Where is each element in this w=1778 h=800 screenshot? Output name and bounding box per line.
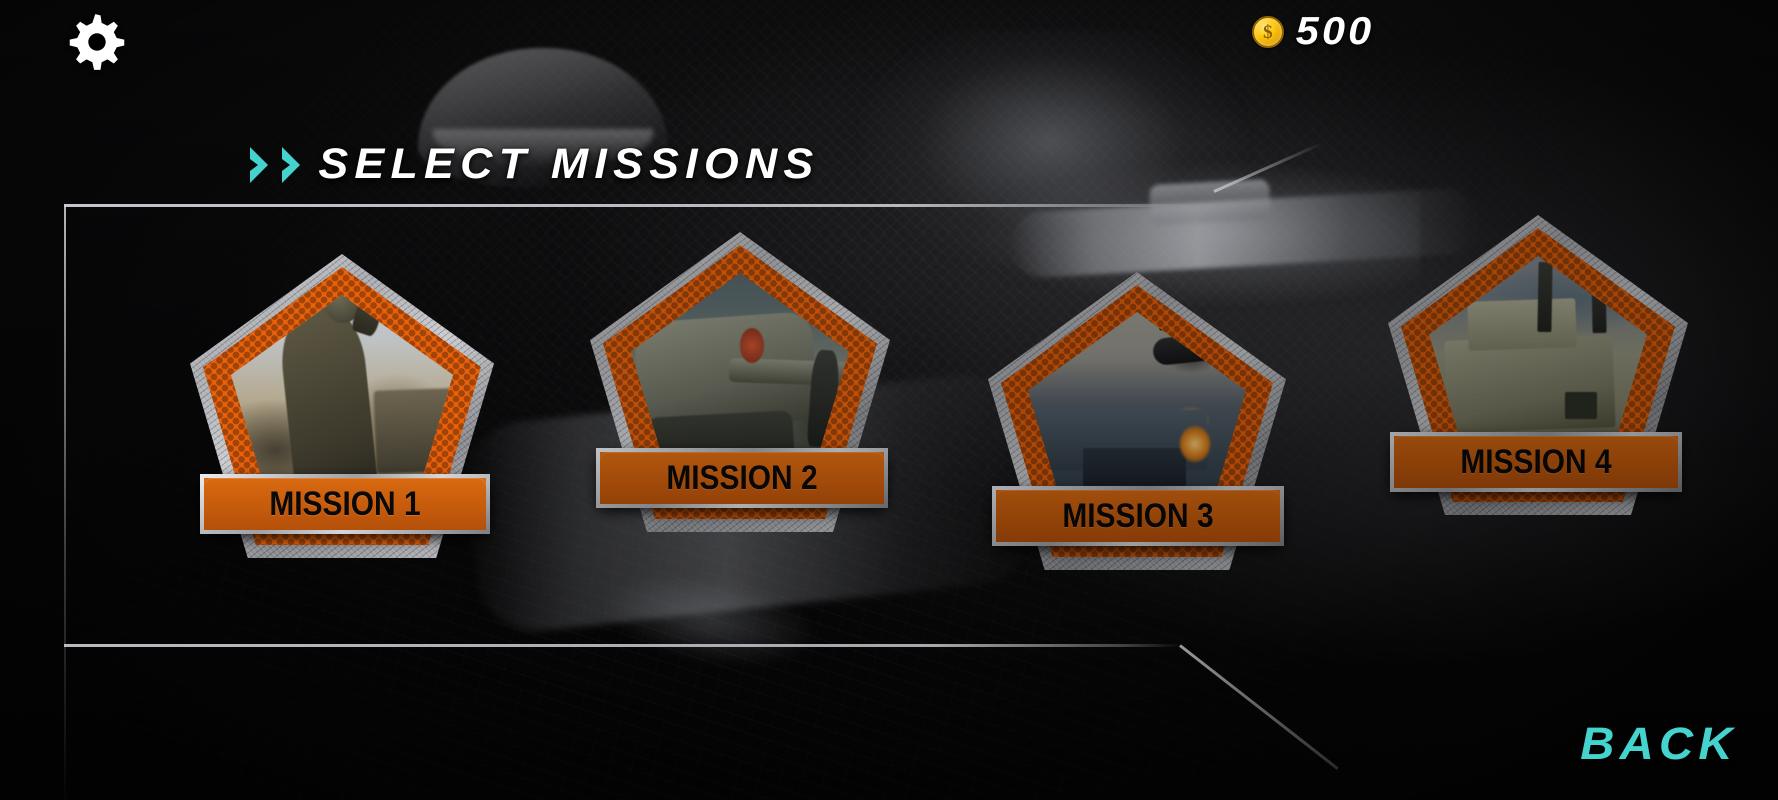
mission-select-button[interactable]: MISSION 2: [596, 448, 888, 508]
scene-detail: [1180, 426, 1210, 461]
back-button[interactable]: BACK: [1580, 718, 1738, 770]
scene-detail: [1467, 298, 1577, 350]
mission-card-list: MISSION 1MISSION 2MISSION 3MISSION 4: [0, 0, 1778, 800]
mission-select-button[interactable]: MISSION 4: [1390, 432, 1682, 492]
game-screen: $ 500 SELECT MISSIONS MISSION 1MISSION 2…: [0, 0, 1778, 800]
scene-detail: [1565, 392, 1597, 419]
mission-select-button[interactable]: MISSION 1: [200, 474, 490, 534]
scene-detail: [1083, 448, 1186, 486]
scene-detail: [1537, 262, 1552, 333]
mission-button-label: MISSION 3: [1062, 497, 1213, 536]
mission-button-label: MISSION 1: [269, 485, 420, 524]
mission-select-button[interactable]: MISSION 3: [992, 486, 1284, 546]
mission-button-label: MISSION 4: [1460, 443, 1611, 482]
mission-button-label: MISSION 2: [666, 459, 817, 498]
